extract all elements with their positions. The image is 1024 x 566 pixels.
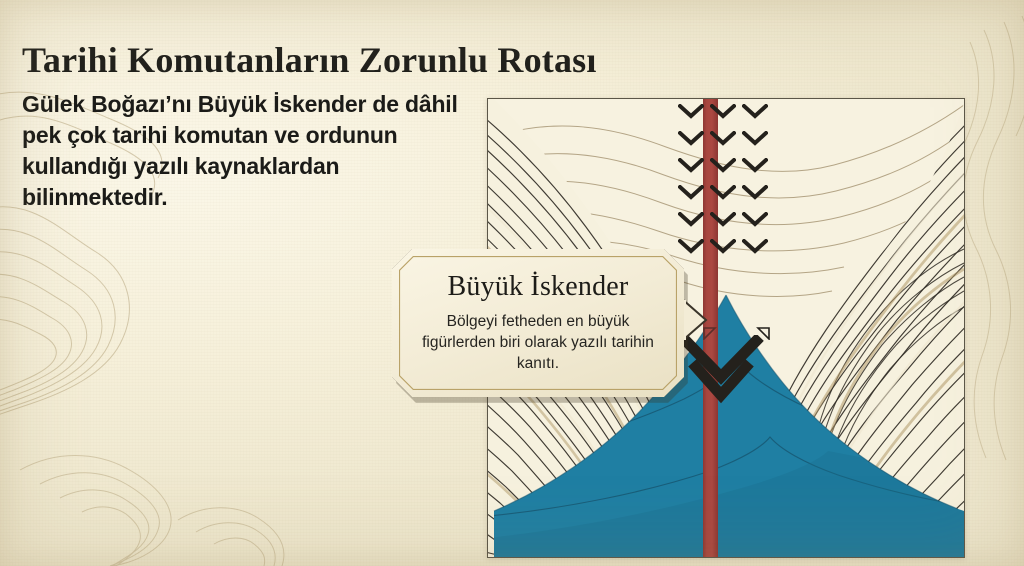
chevron-column-center — [710, 104, 736, 266]
chevron-down-icon — [742, 131, 768, 147]
chevron-column-left — [678, 104, 704, 266]
callout-box[interactable]: Büyük İskender Bölgeyi fetheden en büyük… — [392, 249, 706, 404]
chevron-down-icon — [710, 212, 736, 228]
chevron-down-icon — [678, 212, 704, 228]
chevron-down-icon — [742, 158, 768, 174]
chevron-down-icon — [710, 239, 736, 255]
chevron-down-icon — [710, 185, 736, 201]
slide-root: Tarihi Komutanların Zorunlu Rotası Gülek… — [0, 0, 1024, 566]
chevron-down-icon — [678, 185, 704, 201]
chevron-down-icon — [742, 185, 768, 201]
chevron-down-icon — [678, 158, 704, 174]
chevron-down-icon — [678, 104, 704, 120]
chevron-down-icon — [710, 131, 736, 147]
chevron-down-icon — [710, 104, 736, 120]
callout-body-text: Bölgeyi fetheden en büyük figürlerden bi… — [410, 311, 666, 374]
callout-pointer-icon — [682, 299, 708, 341]
page-title: Tarihi Komutanların Zorunlu Rotası — [22, 38, 597, 82]
chevron-down-icon — [742, 104, 768, 120]
callout-title: Büyük İskender — [392, 271, 684, 303]
chevron-down-icon — [742, 239, 768, 255]
chevron-down-icon — [710, 158, 736, 174]
chevron-down-icon — [678, 131, 704, 147]
chevron-column-right — [742, 104, 768, 266]
subtitle-text: Gülek Boğazı’nı Büyük İskender de dâhil … — [22, 89, 474, 213]
chevron-down-icon — [742, 212, 768, 228]
